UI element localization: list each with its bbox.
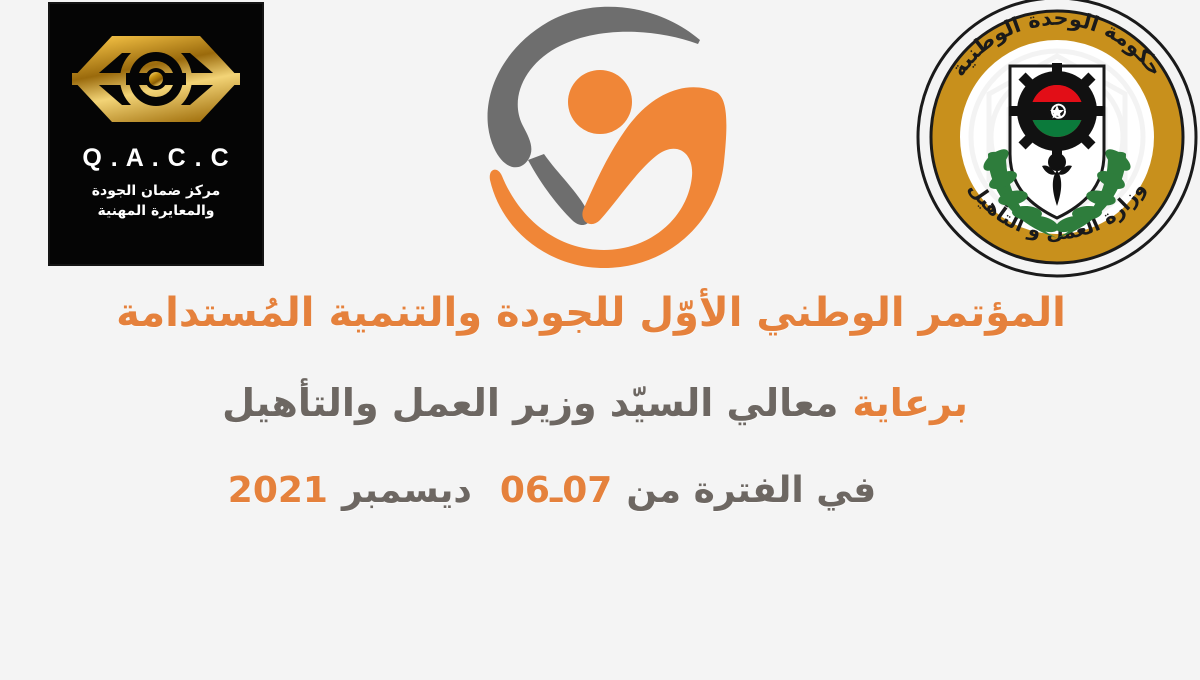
qacc-arabic-name: مركز ضمان الجودة والمعايرة المهنية [92,181,220,222]
qacc-logo: Q . A . C . C مركز ضمان الجودة والمعايرة… [48,2,264,266]
date-prefix: في الفترة من [626,470,876,511]
date-range: 07ـ06 [500,470,613,511]
emblem-gear-icon [1009,63,1105,159]
qacc-abbreviation: Q . A . C . C [82,144,229,173]
date-line: في الفترة من07ـ06ديسمبر2021 [0,468,1200,513]
conference-poster: Q . A . C . C مركز ضمان الجودة والمعايرة… [0,0,1200,680]
conference-figure-logo [462,0,738,276]
patron-prefix: برعاية [852,381,967,425]
date-year: 2021 [228,470,328,511]
qacc-eye-icon [66,20,246,142]
patron-rest: معالي السيّد وزير العمل والتأهيل [222,381,838,425]
qacc-arabic-line-1: مركز ضمان الجودة [92,181,220,201]
date-month: ديسمبر [342,470,472,511]
logo-row: Q . A . C . C مركز ضمان الجودة والمعايرة… [0,0,1200,285]
page-title: المؤتمر الوطني الأوّل للجودة والتنمية ال… [0,288,1200,338]
qacc-arabic-line-2: والمعايرة المهنية [92,201,220,221]
ministry-emblem: حكومة الوحدة الوطنية وزارة العمل و التأه… [914,0,1200,284]
figure-head [568,70,632,134]
poster-text-block: المؤتمر الوطني الأوّل للجودة والتنمية ال… [0,288,1200,513]
patron-line: برعايةمعالي السيّد وزير العمل والتأهيل [0,380,1200,428]
figure-gray-arm [528,154,590,225]
